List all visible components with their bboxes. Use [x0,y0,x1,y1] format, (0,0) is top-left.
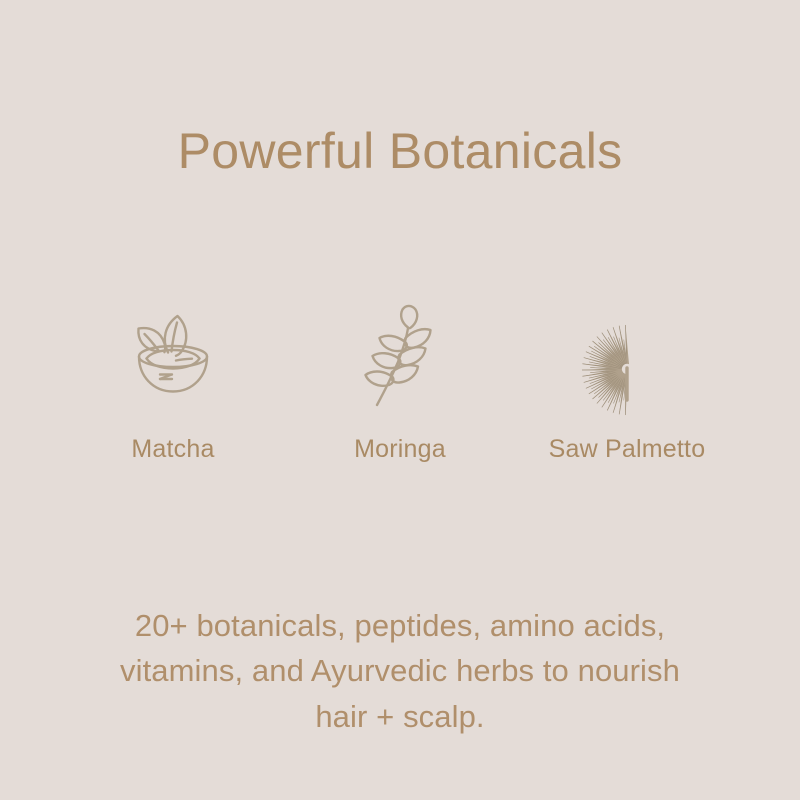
saw-palmetto-fan-icon [567,296,687,416]
moringa-leaf-icon [340,296,460,416]
botanical-label-moringa: Moringa [354,434,446,464]
botanical-item-matcha: Matcha [60,296,286,464]
description-line-1: 20+ botanicals, peptides, amino acids, [50,603,750,648]
botanicals-promo-card: Powerful Botanicals [0,0,800,800]
matcha-bowl-icon [113,296,233,416]
botanical-label-saw-palmetto: Saw Palmetto [549,434,706,464]
description-line-3: hair + scalp. [50,694,750,739]
description-text: 20+ botanicals, peptides, amino acids, v… [50,603,750,739]
botanical-item-moringa: Moringa [287,296,513,464]
botanical-item-saw-palmetto: Saw Palmetto [514,296,740,464]
botanical-label-matcha: Matcha [131,434,214,464]
description-line-2: vitamins, and Ayurvedic herbs to nourish [50,648,750,693]
botanicals-row: Matcha [60,296,740,464]
page-title: Powerful Botanicals [0,124,800,179]
